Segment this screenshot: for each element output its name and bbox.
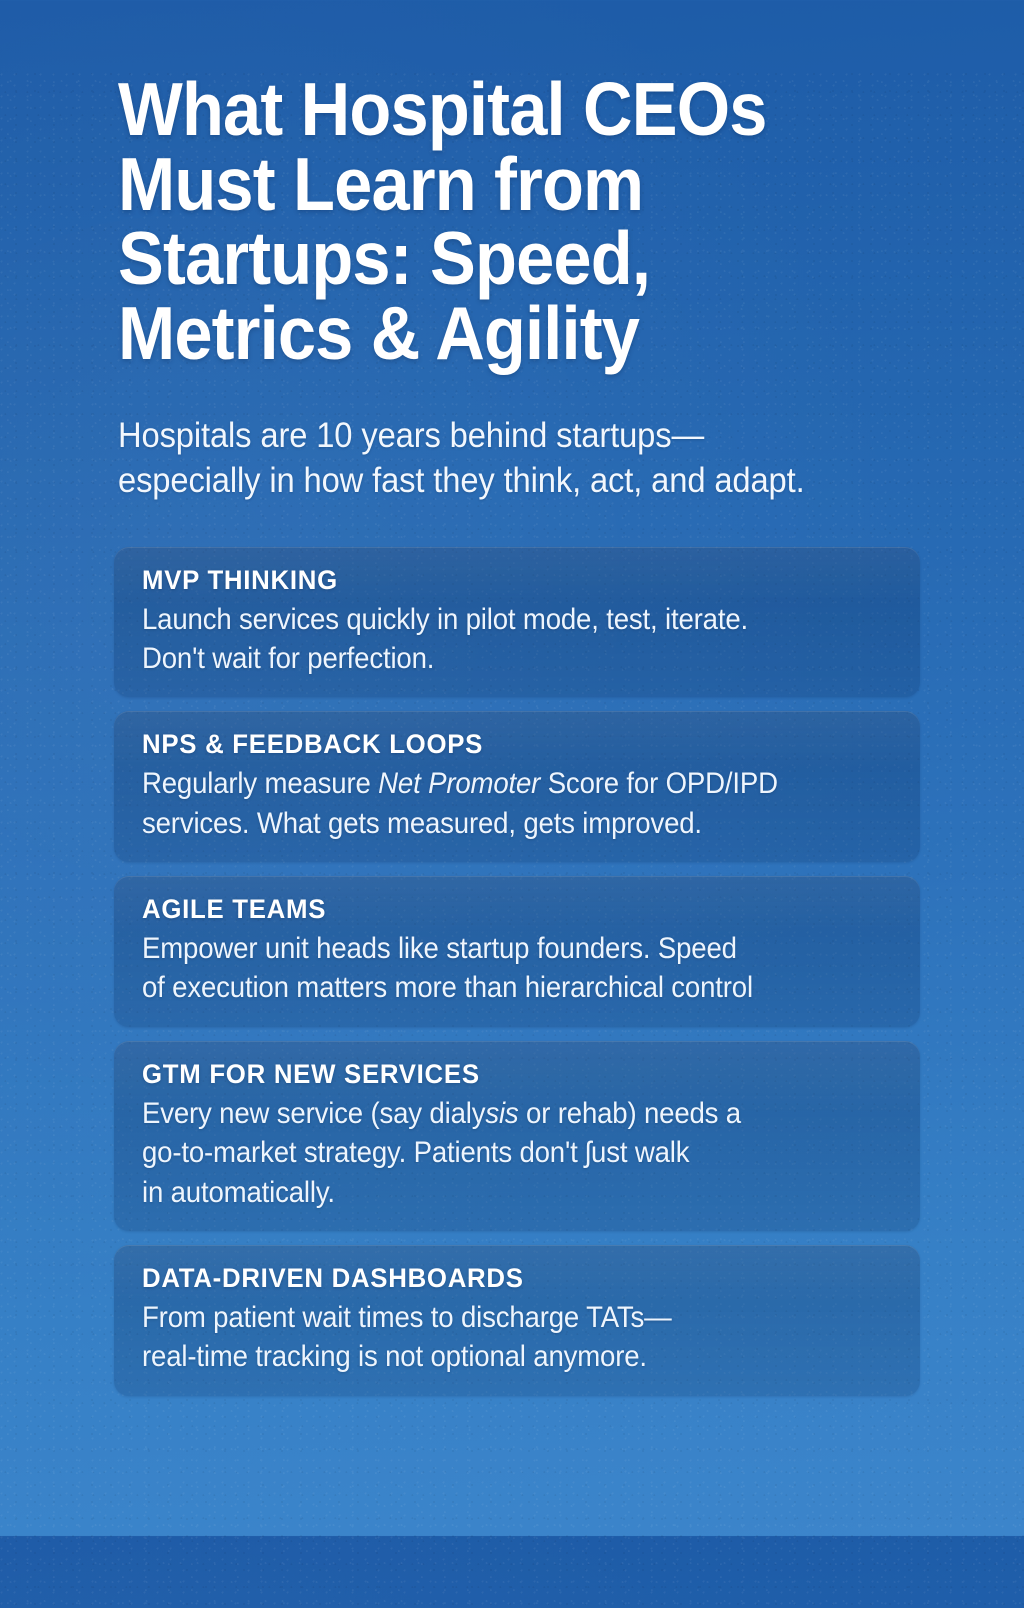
card-body: Regularly measure Net Promoter Score for… xyxy=(142,764,901,843)
insight-card-list: MVP THINKING Launch services quickly in … xyxy=(114,547,920,1396)
card-title: GTM FOR NEW SERVICES xyxy=(142,1058,896,1091)
page-subtitle: Hospitals are 10 years behind startups— … xyxy=(118,413,922,503)
card-title: MVP THINKING xyxy=(142,564,896,597)
insight-card: AGILE TEAMS Empower unit heads like star… xyxy=(114,876,920,1027)
insight-card: MVP THINKING Launch services quickly in … xyxy=(114,547,920,698)
card-body: Empower unit heads like startup founders… xyxy=(142,929,901,1008)
insight-card: DATA-DRIVEN DASHBOARDS From patient wait… xyxy=(114,1245,920,1396)
insight-card: NPS & FEEDBACK LOOPS Regularly measure N… xyxy=(114,711,920,862)
card-body: From patient wait times to discharge TAT… xyxy=(142,1298,901,1377)
card-title: AGILE TEAMS xyxy=(142,893,896,926)
infographic-poster: What Hospital CEOs Must Learn from Start… xyxy=(0,72,1024,1608)
page-title: What Hospital CEOs Must Learn from Start… xyxy=(118,72,934,371)
card-title: NPS & FEEDBACK LOOPS xyxy=(142,728,896,761)
card-title: DATA-DRIVEN DASHBOARDS xyxy=(142,1262,896,1295)
insight-card: GTM FOR NEW SERVICES Every new service (… xyxy=(114,1041,920,1231)
card-body: Every new service (say dialysis or rehab… xyxy=(142,1094,901,1212)
card-body: Launch services quickly in pilot mode, t… xyxy=(142,600,901,679)
